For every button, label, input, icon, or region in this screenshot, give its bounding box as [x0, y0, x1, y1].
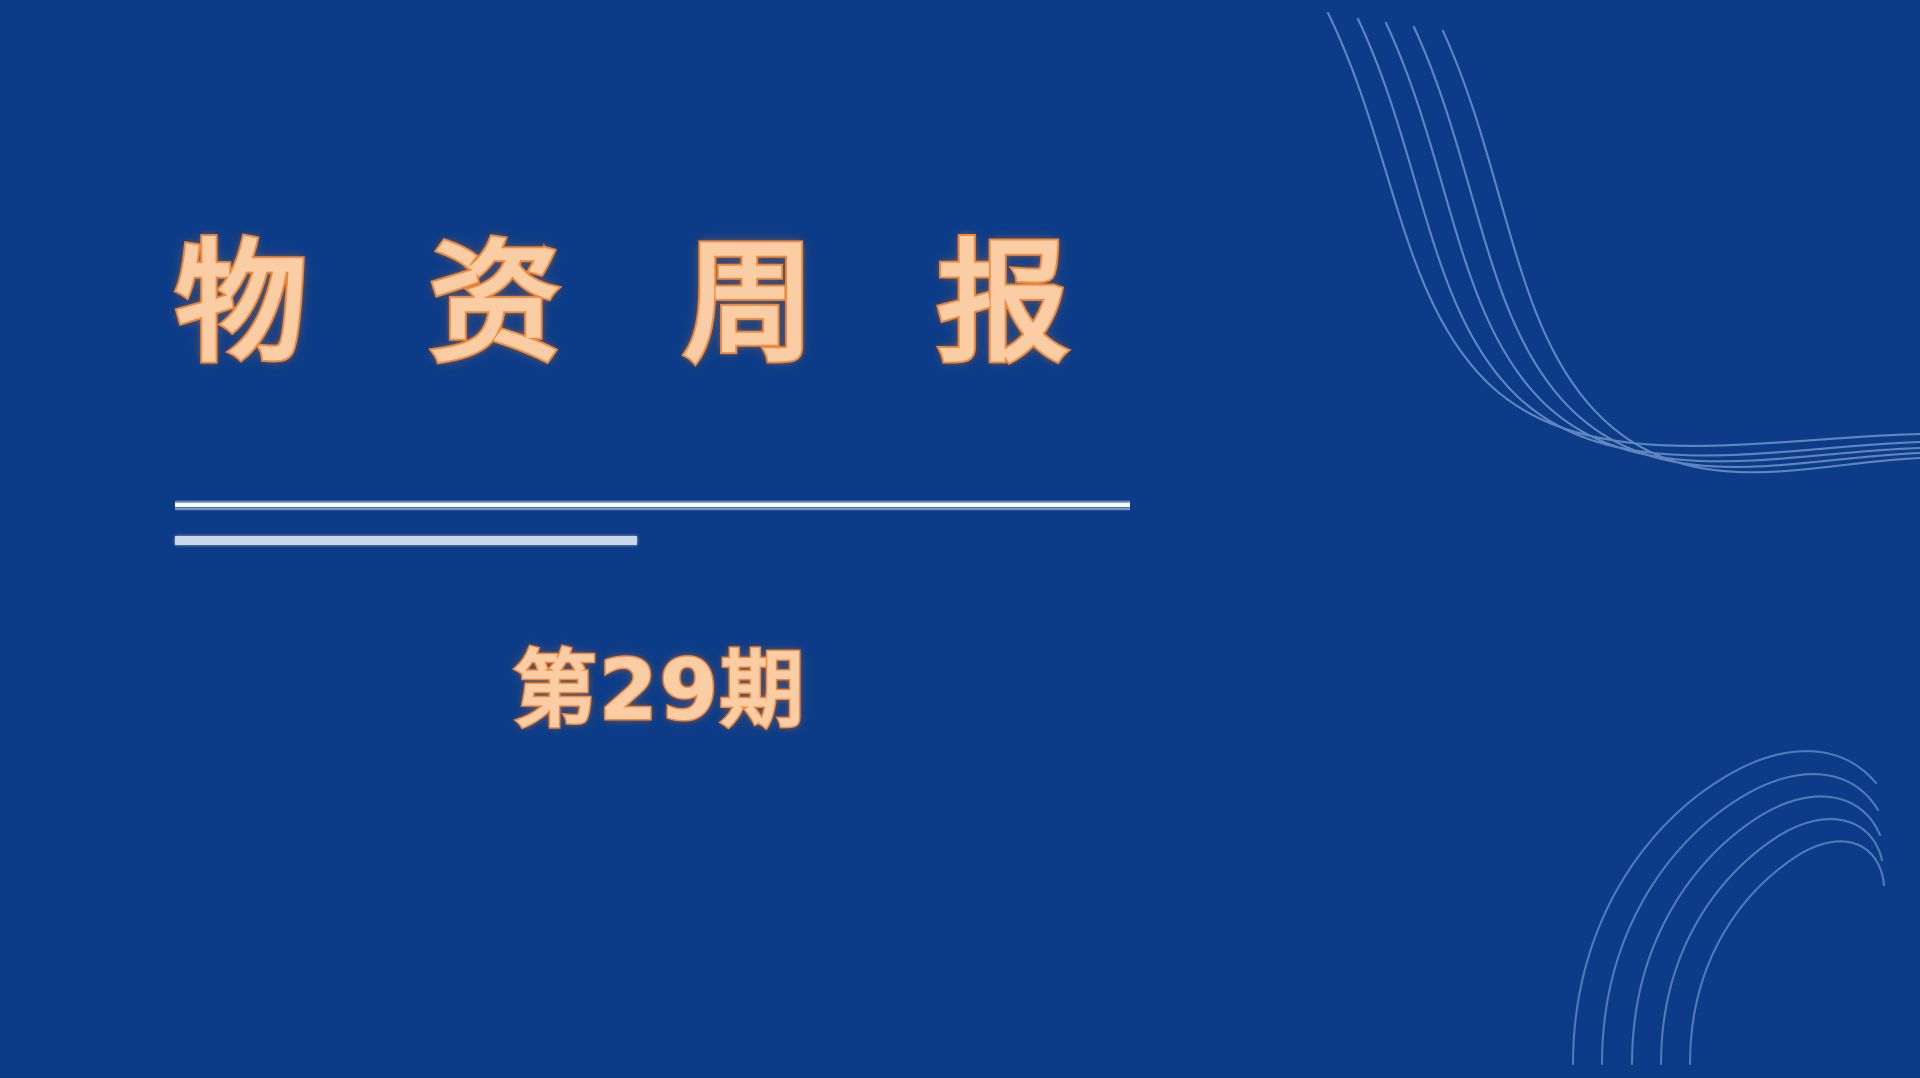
- s-curve-stroke-5: [1443, 31, 1920, 472]
- issue-subtitle: 第29期: [513, 648, 806, 732]
- cover-slide: 物 资 周 报 第29期: [0, 0, 1920, 1078]
- page-title: 物 资 周 报: [175, 238, 1175, 370]
- s-curve-stroke-1: [1328, 13, 1920, 446]
- arc-stroke-3: [1632, 796, 1880, 1064]
- arc-stroke-2: [1602, 774, 1878, 1064]
- arc-stroke-5: [1690, 841, 1884, 1064]
- title-underline-secondary: [175, 536, 637, 545]
- s-curve-stroke-2: [1358, 19, 1920, 456]
- title-block: 物 资 周 报: [175, 238, 1175, 370]
- arc-stroke-1: [1573, 751, 1876, 1064]
- title-underline-primary: [175, 500, 1130, 511]
- arc-stroke-4: [1661, 819, 1882, 1064]
- underline-primary-core: [175, 503, 1130, 507]
- s-curve-stroke-3: [1386, 23, 1920, 461]
- s-curve-stroke-4: [1414, 27, 1920, 467]
